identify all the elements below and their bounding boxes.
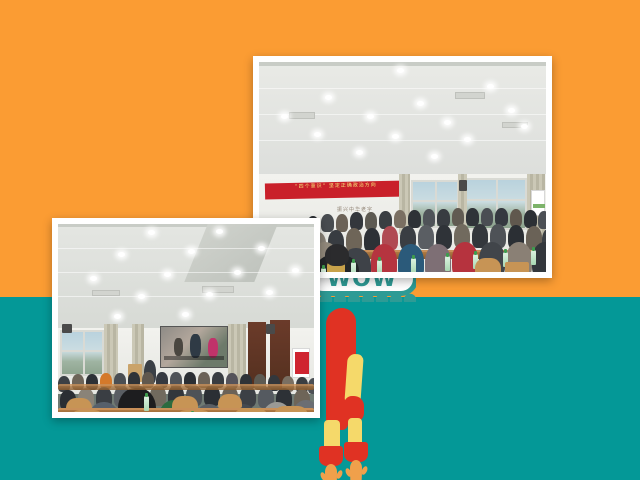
- hero-boot-right-icon: [344, 442, 368, 462]
- wall-banner: “四个意识” 坚定正确政治方向: [265, 181, 407, 200]
- rocket-flame-right-icon: [350, 460, 362, 480]
- hero-boot-left-icon: [319, 446, 343, 466]
- collage-canvas: WOW: [0, 0, 640, 480]
- wall-banner-text: “四个意识” 坚定正确政治方向: [295, 182, 377, 190]
- superhero-rocket-decoration: [318, 296, 388, 480]
- photo-left-image: [58, 224, 314, 412]
- photo-card-left[interactable]: [52, 218, 320, 418]
